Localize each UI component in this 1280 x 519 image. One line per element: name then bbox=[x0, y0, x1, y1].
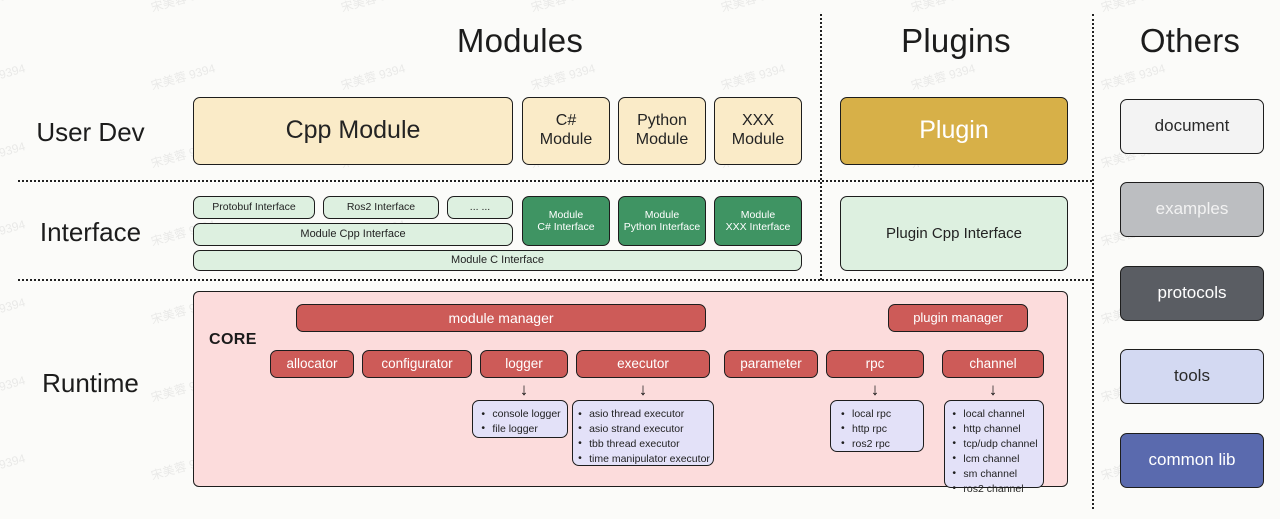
core-details-executor: asio thread executor asio strand executo… bbox=[572, 400, 714, 466]
list-item: tbb thread executor bbox=[578, 437, 710, 452]
list-item: tcp/udp channel bbox=[952, 437, 1037, 452]
core-plugin-manager[interactable]: plugin manager bbox=[888, 304, 1028, 332]
others-item-common-lib[interactable]: common lib bbox=[1120, 433, 1264, 488]
column-title-plugins: Plugins bbox=[836, 22, 1076, 60]
watermark-text: 宋美蓉 9394 bbox=[0, 293, 27, 328]
divider-modules-plugins bbox=[820, 14, 822, 280]
watermark-text: 宋美蓉 9394 bbox=[339, 59, 407, 94]
watermark-text: 宋美蓉 9394 bbox=[0, 0, 27, 16]
others-item-examples[interactable]: examples bbox=[1120, 182, 1264, 237]
core-component-executor[interactable]: executor bbox=[576, 350, 710, 378]
core-component-rpc[interactable]: rpc bbox=[826, 350, 924, 378]
arrow-down-icon-channel: ↓ bbox=[942, 381, 1044, 398]
interface-box-module-csharp[interactable]: Module C# Interface bbox=[522, 196, 610, 246]
column-title-others: Others bbox=[1100, 22, 1280, 60]
row-label-user-dev: User Dev bbox=[8, 117, 173, 148]
list-item: ros2 rpc bbox=[841, 437, 915, 452]
divider-plugins-others bbox=[1092, 14, 1094, 509]
column-title-modules: Modules bbox=[300, 22, 740, 60]
interface-box-ros2[interactable]: Ros2 Interface bbox=[323, 196, 439, 219]
list-item: sm channel bbox=[952, 467, 1037, 482]
watermark-text: 宋美蓉 9394 bbox=[719, 0, 787, 16]
core-component-logger[interactable]: logger bbox=[480, 350, 568, 378]
core-component-configurator[interactable]: configurator bbox=[362, 350, 472, 378]
watermark-text: 宋美蓉 9394 bbox=[909, 59, 977, 94]
plugin-box[interactable]: Plugin bbox=[840, 97, 1068, 165]
interface-box-module-c[interactable]: Module C Interface bbox=[193, 250, 802, 271]
list-item: file logger bbox=[481, 422, 560, 437]
watermark-text: 宋美蓉 9394 bbox=[909, 0, 977, 16]
watermark-text: 宋美蓉 9394 bbox=[339, 0, 407, 16]
interface-box-plugin-cpp[interactable]: Plugin Cpp Interface bbox=[840, 196, 1068, 271]
core-component-allocator[interactable]: allocator bbox=[270, 350, 354, 378]
interface-box-ellipsis[interactable]: ... ... bbox=[447, 196, 513, 219]
watermark-text: 宋美蓉 9394 bbox=[529, 0, 597, 16]
core-panel: CORE module manager plugin manager alloc… bbox=[193, 291, 1068, 487]
architecture-diagram: 宋美蓉 9394宋美蓉 9394宋美蓉 9394宋美蓉 9394宋美蓉 9394… bbox=[0, 0, 1280, 519]
watermark-text: 宋美蓉 9394 bbox=[0, 449, 27, 484]
watermark-text: 宋美蓉 9394 bbox=[1099, 59, 1167, 94]
module-box-csharp[interactable]: C# Module bbox=[522, 97, 610, 165]
core-details-rpc: local rpc http rpc ros2 rpc bbox=[830, 400, 924, 452]
list-item: console logger bbox=[481, 407, 560, 422]
list-item: lcm channel bbox=[952, 452, 1037, 467]
module-box-python[interactable]: Python Module bbox=[618, 97, 706, 165]
arrow-down-icon-logger: ↓ bbox=[480, 381, 568, 398]
core-component-channel[interactable]: channel bbox=[942, 350, 1044, 378]
arrow-down-icon-executor: ↓ bbox=[576, 381, 710, 398]
others-item-document[interactable]: document bbox=[1120, 99, 1264, 154]
watermark-text: 宋美蓉 9394 bbox=[719, 59, 787, 94]
row-label-runtime: Runtime bbox=[8, 368, 173, 399]
core-details-channel: local channel http channel tcp/udp chann… bbox=[944, 400, 1044, 488]
list-item: time manipulator executor bbox=[578, 452, 710, 467]
list-item: asio strand executor bbox=[578, 422, 710, 437]
interface-box-module-cpp[interactable]: Module Cpp Interface bbox=[193, 223, 513, 246]
module-box-cpp[interactable]: Cpp Module bbox=[193, 97, 513, 165]
watermark-text: 宋美蓉 9394 bbox=[529, 59, 597, 94]
list-item: local rpc bbox=[841, 407, 915, 422]
list-item: local channel bbox=[952, 407, 1037, 422]
interface-box-module-xxx[interactable]: Module XXX Interface bbox=[714, 196, 802, 246]
core-label: CORE bbox=[209, 331, 257, 350]
core-module-manager[interactable]: module manager bbox=[296, 304, 706, 332]
watermark-text: 宋美蓉 9394 bbox=[0, 59, 27, 94]
divider-interface-runtime bbox=[18, 279, 1092, 281]
module-box-xxx[interactable]: XXX Module bbox=[714, 97, 802, 165]
watermark-text: 宋美蓉 9394 bbox=[149, 59, 217, 94]
core-details-executor-list: asio thread executor asio strand executo… bbox=[568, 401, 718, 473]
list-item: asio thread executor bbox=[578, 407, 710, 422]
list-item: http channel bbox=[952, 422, 1037, 437]
interface-box-protobuf[interactable]: Protobuf Interface bbox=[193, 196, 315, 219]
list-item: http rpc bbox=[841, 422, 915, 437]
others-item-tools[interactable]: tools bbox=[1120, 349, 1264, 404]
row-label-interface: Interface bbox=[8, 217, 173, 248]
list-item: ros2 channel bbox=[952, 482, 1037, 497]
others-item-protocols[interactable]: protocols bbox=[1120, 266, 1264, 321]
arrow-down-icon-rpc: ↓ bbox=[826, 381, 924, 398]
core-details-channel-list: local channel http channel tcp/udp chann… bbox=[942, 401, 1045, 502]
watermark-text: 宋美蓉 9394 bbox=[1099, 0, 1167, 16]
interface-box-module-python[interactable]: Module Python Interface bbox=[618, 196, 706, 246]
core-details-logger-list: console logger file logger bbox=[471, 401, 568, 443]
core-details-rpc-list: local rpc http rpc ros2 rpc bbox=[831, 401, 923, 458]
core-details-logger: console logger file logger bbox=[472, 400, 568, 438]
core-component-parameter[interactable]: parameter bbox=[724, 350, 818, 378]
watermark-text: 宋美蓉 9394 bbox=[149, 0, 217, 16]
divider-userdev-interface bbox=[18, 180, 1092, 182]
